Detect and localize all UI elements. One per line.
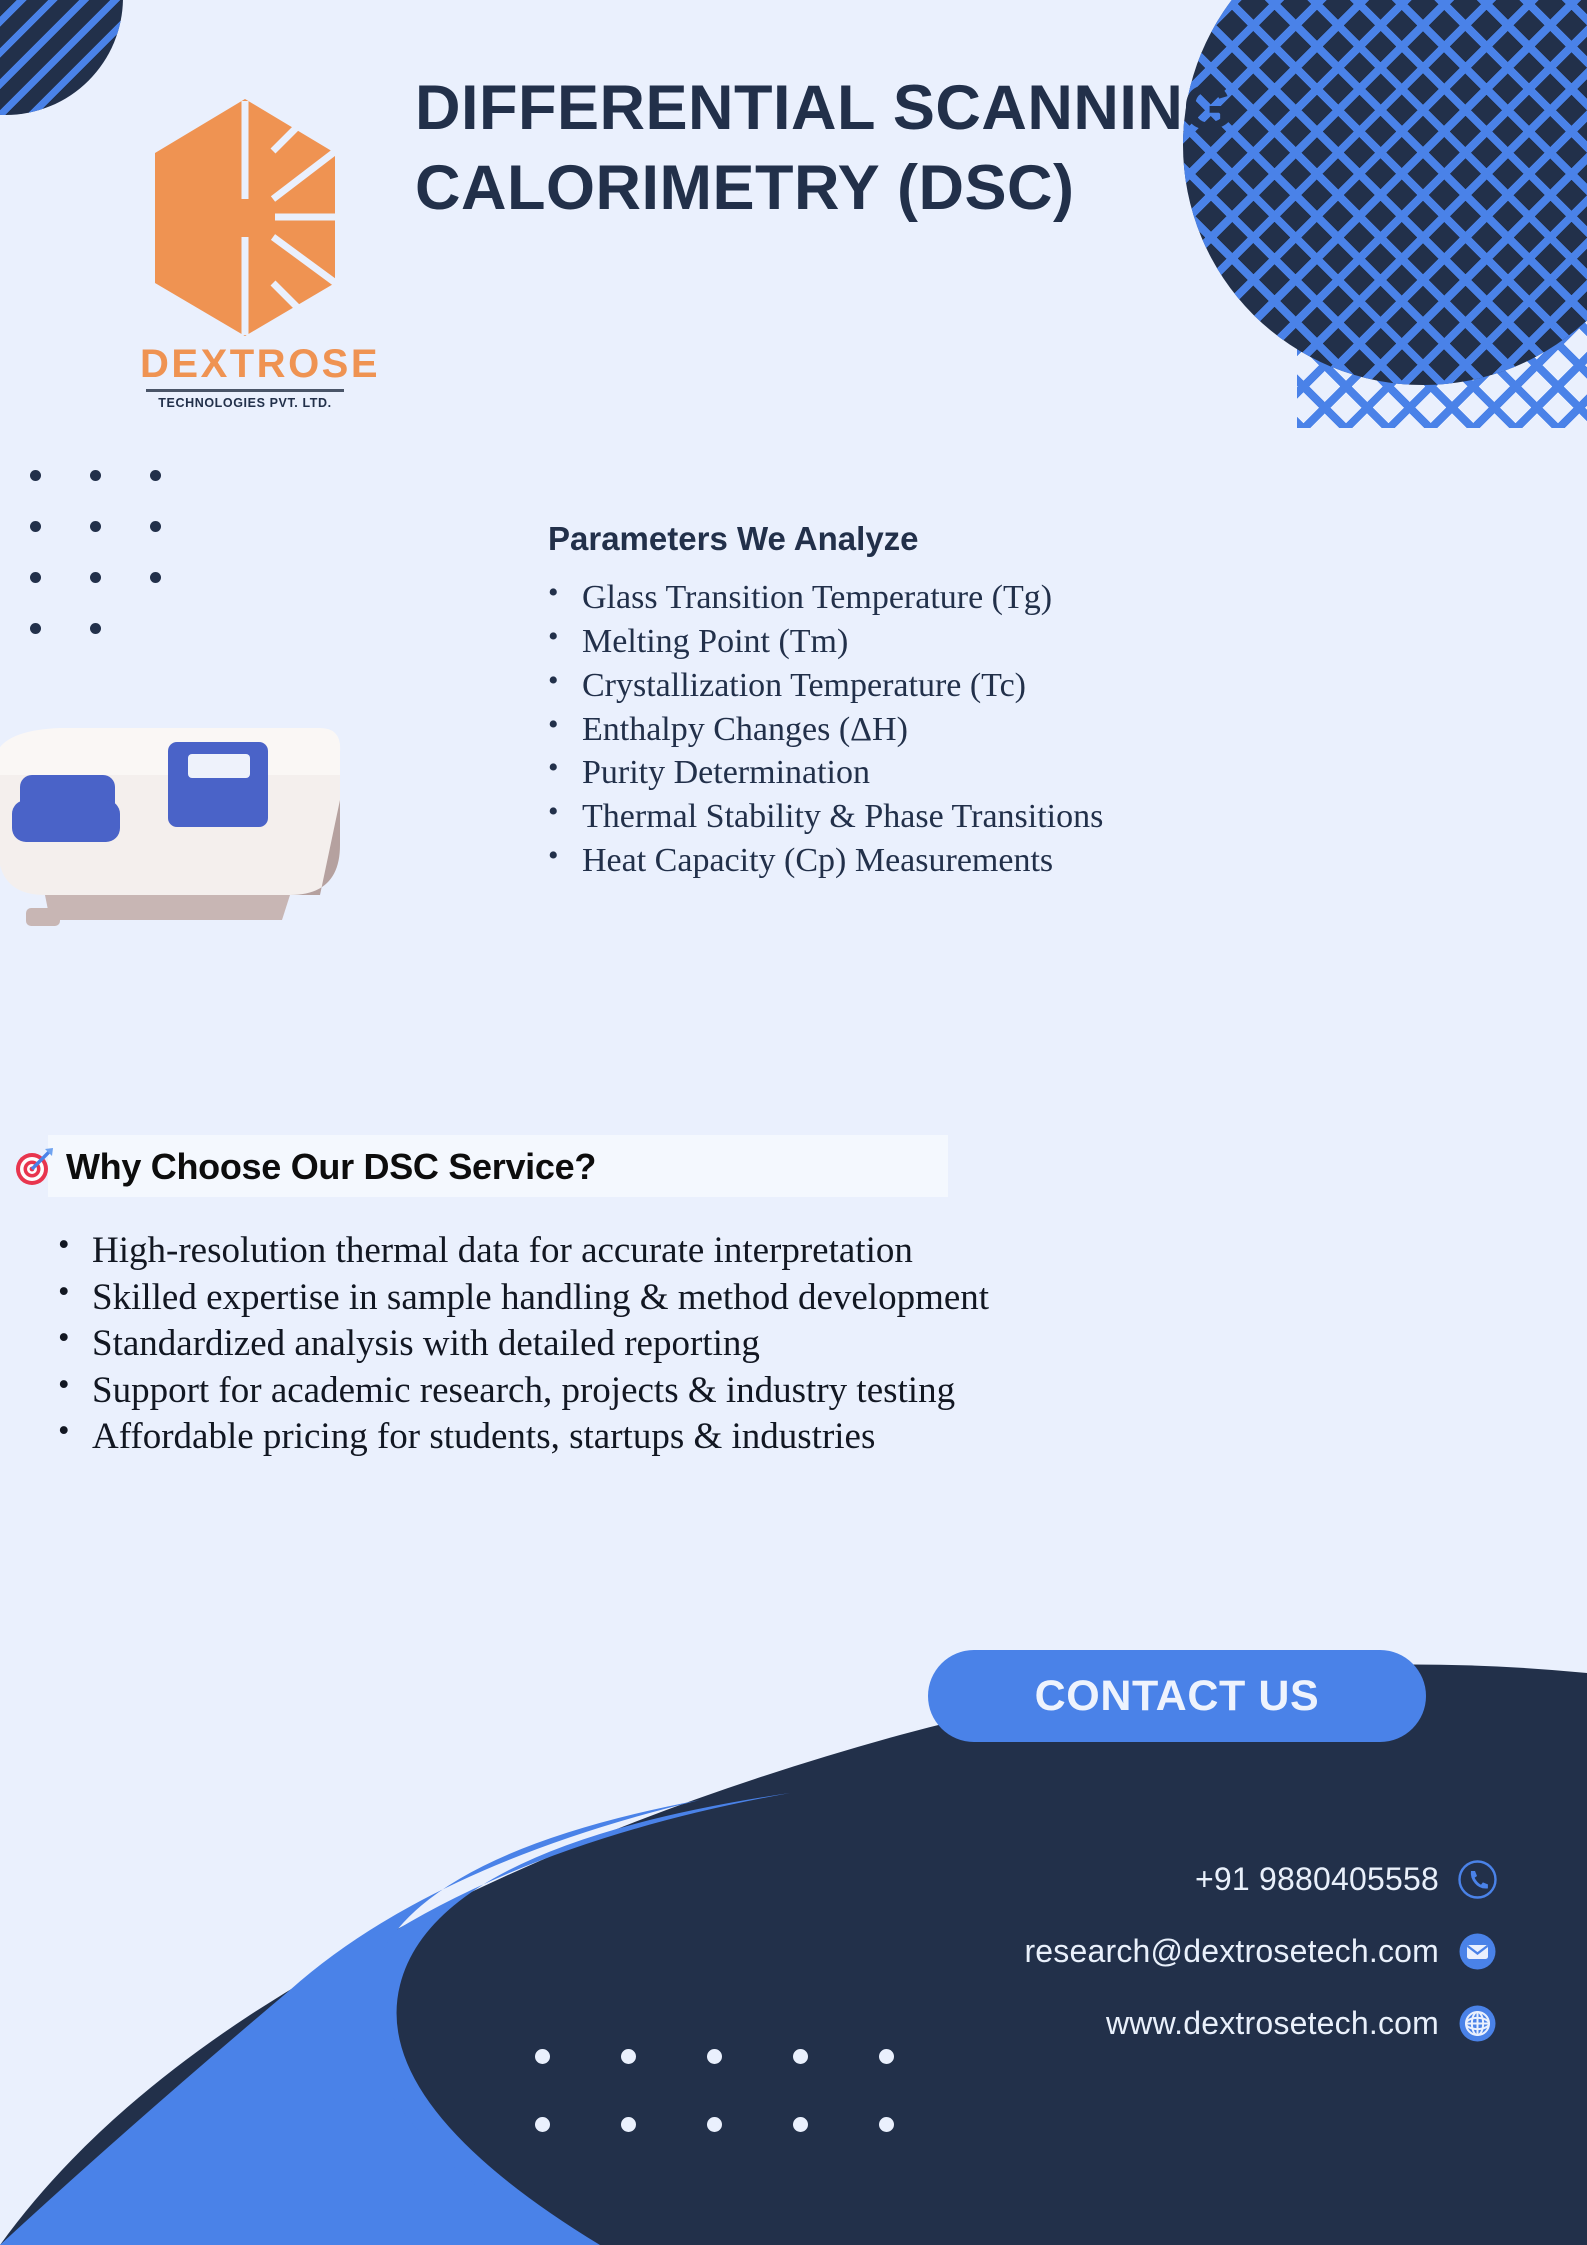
page-title: DIFFERENTIAL SCANNING CALORIMETRY (DSC) — [415, 68, 1355, 228]
contact-us-button[interactable]: CONTACT US — [928, 1650, 1426, 1742]
website-url: www.dextrosetech.com — [1106, 2005, 1439, 2042]
list-item: Crystallization Temperature (Tc) — [520, 664, 1530, 708]
contact-row-email[interactable]: research@dextrosetech.com — [737, 1932, 1497, 1971]
brand-logo: DEXTROSE TECHNOLOGIES PVT. LTD. — [140, 95, 350, 410]
hexagon-burst-logo-icon — [145, 95, 345, 340]
dsc-instrument-illustration — [0, 680, 490, 940]
list-item: Support for academic research, projects … — [40, 1368, 1380, 1415]
list-item: Skilled expertise in sample handling & m… — [40, 1275, 1380, 1322]
contact-details: +91 9880405558 research@dextrosetech.com… — [737, 1860, 1497, 2076]
list-item: Glass Transition Temperature (Tg) — [520, 576, 1530, 620]
logo-wordmark: DEXTROSE — [140, 344, 350, 384]
list-item: High-resolution thermal data for accurat… — [40, 1228, 1380, 1275]
list-item: Melting Point (Tm) — [520, 620, 1530, 664]
contact-row-website[interactable]: www.dextrosetech.com — [737, 2004, 1497, 2043]
diagonal-stripe-pattern — [0, 0, 123, 115]
logo-divider — [146, 389, 344, 392]
list-item: Enthalpy Changes (ΔH) — [520, 708, 1530, 752]
why-choose-header: Why Choose Our DSC Service? — [14, 1146, 596, 1188]
list-item: Thermal Stability & Phase Transitions — [520, 795, 1530, 839]
globe-icon — [1458, 2004, 1497, 2043]
dart-target-icon — [14, 1147, 54, 1187]
parameters-section: Parameters We Analyze Glass Transition T… — [520, 520, 1530, 883]
logo-tagline: TECHNOLOGIES PVT. LTD. — [140, 396, 350, 410]
parameters-list: Glass Transition Temperature (Tg) Meltin… — [520, 576, 1530, 883]
list-item: Heat Capacity (Cp) Measurements — [520, 839, 1530, 883]
phone-icon — [1458, 1860, 1497, 1899]
list-item: Purity Determination — [520, 751, 1530, 795]
left-dot-grid-decoration — [30, 470, 161, 674]
top-left-circle-decoration — [0, 0, 123, 115]
why-choose-heading: Why Choose Our DSC Service? — [66, 1146, 596, 1188]
bottom-dot-grid-decoration — [535, 2049, 894, 2185]
mail-icon — [1458, 1932, 1497, 1971]
contact-row-phone[interactable]: +91 9880405558 — [737, 1860, 1497, 1899]
parameters-heading: Parameters We Analyze — [520, 520, 1530, 558]
email-address: research@dextrosetech.com — [1024, 1933, 1439, 1970]
list-item: Standardized analysis with detailed repo… — [40, 1321, 1380, 1368]
list-item: Affordable pricing for students, startup… — [40, 1414, 1380, 1461]
why-choose-list: High-resolution thermal data for accurat… — [40, 1228, 1380, 1461]
phone-number: +91 9880405558 — [1195, 1861, 1439, 1898]
